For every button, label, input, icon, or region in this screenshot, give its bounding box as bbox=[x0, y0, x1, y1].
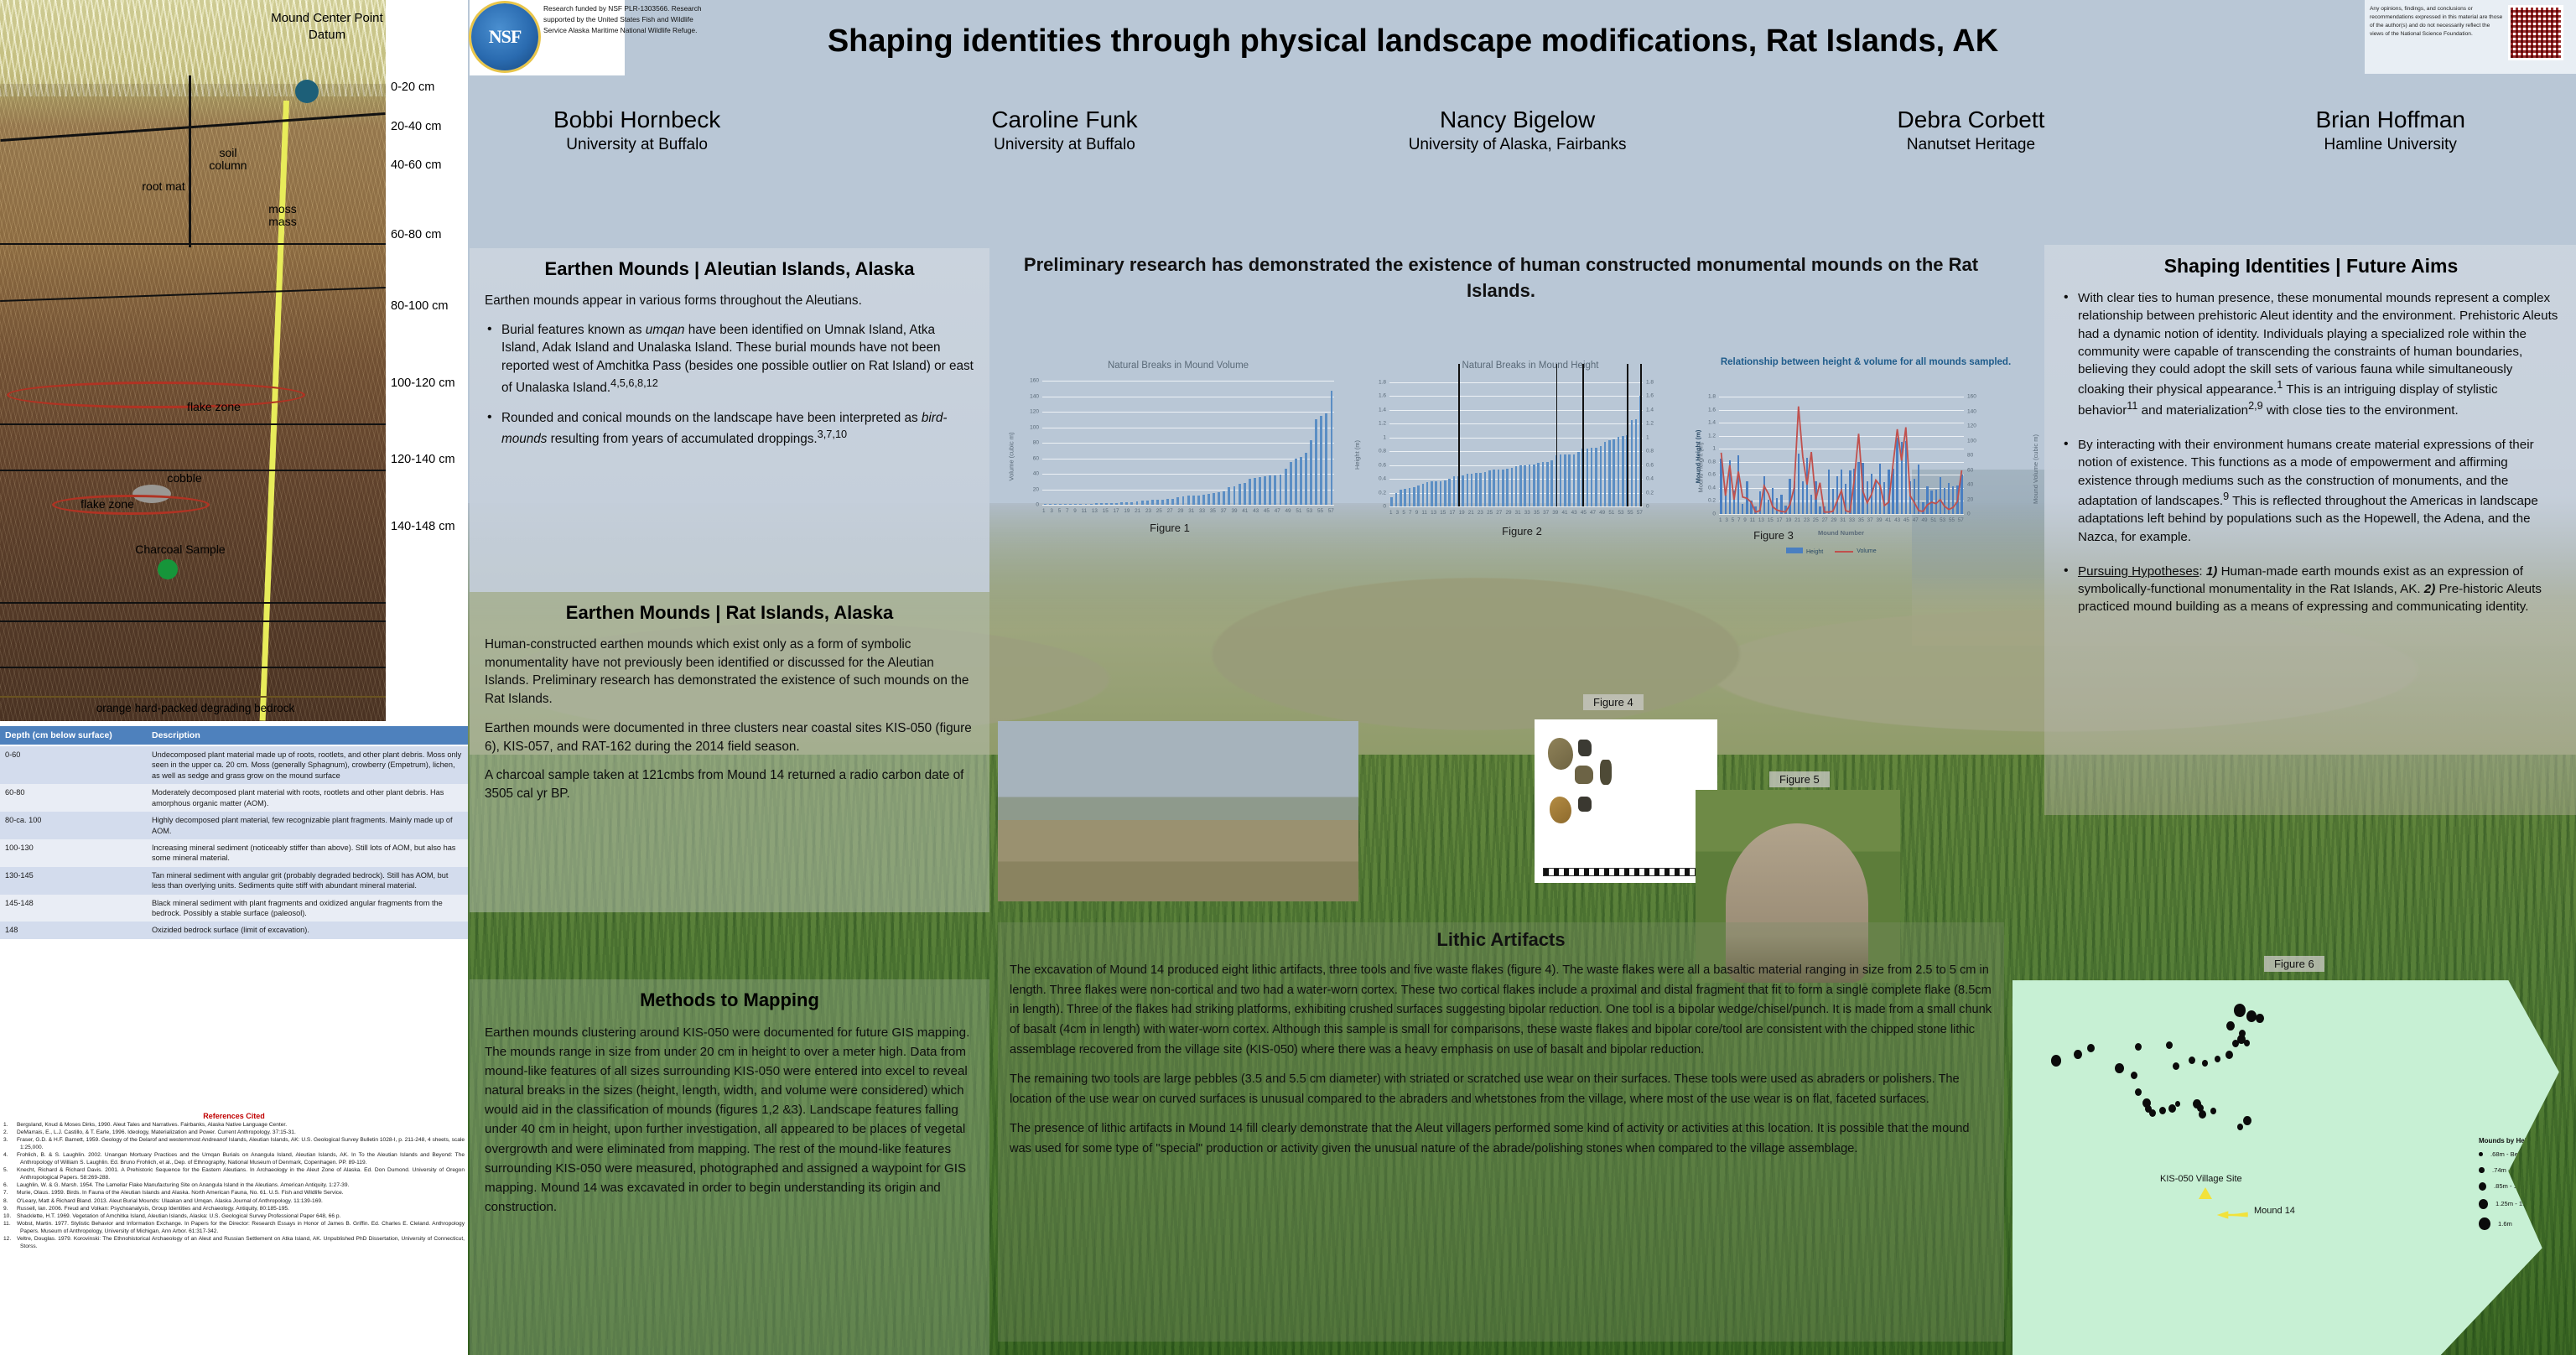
x-tick-label: 15 bbox=[1103, 508, 1109, 514]
x-tick-label: 41 bbox=[1885, 517, 1891, 523]
depth-description-table: Depth (cm below surface) Description 0-6… bbox=[0, 726, 468, 939]
chart-bar bbox=[1202, 495, 1205, 505]
author-affiliation: University at Buffalo bbox=[991, 134, 1137, 156]
chart-bar bbox=[1529, 465, 1531, 506]
profile-line bbox=[0, 602, 386, 604]
natural-break-line bbox=[1458, 364, 1460, 506]
chart-bar bbox=[1560, 454, 1562, 506]
x-tick-label: 11 bbox=[1421, 510, 1427, 516]
cell-depth: 130-145 bbox=[0, 867, 147, 895]
map-mound-dot bbox=[2225, 1051, 2233, 1059]
x-tick-label: 1 bbox=[1389, 510, 1393, 516]
map-mound-dot bbox=[2239, 1030, 2246, 1037]
y-axis-title: Volume (cubic m) bbox=[1007, 433, 1015, 481]
chart-bar bbox=[1635, 419, 1638, 506]
map-mound-dot bbox=[2210, 1108, 2216, 1114]
chart-bar bbox=[1595, 448, 1597, 506]
chart-legend: HeightVolume bbox=[1786, 548, 1877, 555]
chart-bar bbox=[1564, 454, 1566, 506]
x-axis-title: Mound Number bbox=[1818, 529, 1864, 537]
chart-bar bbox=[1254, 478, 1256, 505]
chart-bar bbox=[1130, 502, 1133, 506]
chart-bar bbox=[1502, 470, 1504, 506]
axis-tick-label: 1.6 bbox=[1646, 393, 1654, 399]
axis-tick-label: 1.8 bbox=[1646, 380, 1654, 386]
gridline bbox=[1389, 438, 1643, 439]
table-row: 80-ca. 100Highly decomposed plant materi… bbox=[0, 812, 468, 839]
author-name: Debra Corbett bbox=[1898, 105, 2045, 134]
chart-bar bbox=[1475, 473, 1478, 506]
chart-bar bbox=[1125, 502, 1128, 505]
chart-bar bbox=[1085, 504, 1088, 505]
map-mound-dot bbox=[2135, 1088, 2142, 1096]
axis-tick-label: 0.8 bbox=[1692, 459, 1716, 465]
x-tick-label: 37 bbox=[1867, 517, 1873, 523]
figure-caption: Figure 3 bbox=[1727, 529, 1820, 542]
col-header-description: Description bbox=[147, 726, 468, 745]
chart-bar bbox=[1542, 462, 1545, 506]
x-tick-label: 21 bbox=[1794, 517, 1800, 523]
chart-bar bbox=[1591, 448, 1593, 506]
chart-bar bbox=[1171, 499, 1174, 505]
chart-bar bbox=[1431, 481, 1433, 506]
axis-tick-label: 120 bbox=[1015, 409, 1039, 415]
scale-bar bbox=[1543, 868, 1707, 876]
cell-description: Highly decomposed plant material, few re… bbox=[147, 812, 468, 839]
reference-item: 9.Russell, Ian. 2006. Freud and Volkan: … bbox=[3, 1206, 465, 1213]
panel-title: Lithic Artifacts bbox=[1010, 929, 1992, 951]
author-name: Nancy Bigelow bbox=[1409, 105, 1627, 134]
chart-bar bbox=[1448, 479, 1451, 506]
chart-bar bbox=[1506, 469, 1509, 506]
table-header-row: Depth (cm below surface) Description bbox=[0, 726, 468, 745]
x-tick-label: 33 bbox=[1849, 517, 1855, 523]
axis-tick-label: 0.4 bbox=[1646, 476, 1654, 482]
chart-bar bbox=[1269, 475, 1271, 505]
depth-tick: 100-120 cm bbox=[391, 376, 455, 390]
map-mound-dot bbox=[2189, 1056, 2195, 1064]
chart-bar bbox=[1453, 476, 1456, 506]
legend-dot-icon bbox=[2479, 1152, 2483, 1157]
map-mound-dot bbox=[2087, 1044, 2095, 1052]
x-tick-label: 57 bbox=[1328, 508, 1334, 514]
village-site-marker-icon bbox=[2199, 1187, 2212, 1199]
bullet-item: By interacting with their environment hu… bbox=[2061, 436, 2561, 546]
chart-bar bbox=[1493, 470, 1495, 506]
chart-bar bbox=[1537, 463, 1540, 506]
x-tick-label: 3 bbox=[1396, 510, 1400, 516]
chart-bar bbox=[1239, 484, 1241, 505]
x-tick-label: 15 bbox=[1440, 510, 1446, 516]
chart-bar bbox=[1146, 501, 1149, 505]
x-tick-label: 39 bbox=[1876, 517, 1882, 523]
chart-plot-area: 020406080100120140160 bbox=[1042, 381, 1334, 505]
panel-paragraph: A charcoal sample taken at 121cmbs from … bbox=[485, 766, 974, 802]
village-site-label: KIS-050 Village Site bbox=[2160, 1174, 2242, 1184]
chart-bar bbox=[1290, 462, 1292, 505]
chart-bar bbox=[1631, 420, 1633, 506]
x-tick-label: 41 bbox=[1242, 508, 1248, 514]
reference-item: 12.Veltre, Douglas. 1979. Korovinski: Th… bbox=[3, 1236, 465, 1250]
x-tick-label: 25 bbox=[1813, 517, 1819, 523]
x-tick-label: 33 bbox=[1199, 508, 1205, 514]
axis-tick-label: 120 bbox=[1967, 423, 1976, 429]
axis-tick-label: 0.6 bbox=[1646, 462, 1654, 468]
legend-dot-icon bbox=[2479, 1182, 2486, 1191]
x-tick-label: 39 bbox=[1231, 508, 1237, 514]
chart-bar bbox=[1511, 468, 1514, 506]
references-list: 1.Bergsland, Knud & Moses Dirks, 1990. A… bbox=[3, 1122, 465, 1250]
map-mound-dot bbox=[2115, 1063, 2124, 1073]
x-tick-label: 9 bbox=[1415, 510, 1419, 516]
reference-item: 6.Laughlin, W. & G. Marsh. 1954. The Lam… bbox=[3, 1182, 465, 1190]
chart-bar bbox=[1604, 442, 1607, 506]
natural-break-line bbox=[1640, 364, 1642, 506]
axis-tick-label: 40 bbox=[1015, 471, 1039, 477]
chart-bar bbox=[1141, 501, 1144, 505]
chart-bar bbox=[1136, 501, 1139, 505]
bullet-item-hypotheses: Pursuing Hypotheses: 1) Human-made earth… bbox=[2061, 563, 2561, 616]
x-tick-label: 3 bbox=[1725, 517, 1728, 523]
chart-bar bbox=[1440, 481, 1442, 506]
x-tick-label: 23 bbox=[1145, 508, 1151, 514]
axis-tick-label: 0 bbox=[1015, 502, 1039, 508]
x-tick-label: 37 bbox=[1543, 510, 1549, 516]
reference-item: 7.Murie, Olaus. 1959. Birds. In Fauna of… bbox=[3, 1190, 465, 1197]
panel-methods-to-mapping: Methods to Mapping Earthen mounds cluste… bbox=[470, 979, 989, 1355]
preliminary-research-banner: Preliminary research has demonstrated th… bbox=[998, 252, 2004, 304]
figure-4-artifacts-photo bbox=[1535, 719, 1717, 883]
map-mound-dot bbox=[2173, 1062, 2179, 1070]
profile-line bbox=[0, 620, 386, 622]
chart-bar bbox=[1069, 504, 1072, 505]
bedrock-label: orange hard-packed degrading bedrock bbox=[15, 703, 376, 714]
chart-bar bbox=[1120, 502, 1123, 505]
panel-paragraph: Earthen mounds were documented in three … bbox=[485, 719, 974, 755]
chart-bar bbox=[1577, 452, 1580, 506]
gridline bbox=[1042, 381, 1334, 382]
profile-line bbox=[0, 667, 386, 668]
chart-bar bbox=[1622, 436, 1624, 506]
axis-tick-label: 1 bbox=[1646, 434, 1649, 440]
chart-bar bbox=[1044, 504, 1046, 505]
mound14-label: Mound 14 bbox=[2254, 1206, 2295, 1216]
cell-description: Oxizided bedrock surface (limit of excav… bbox=[147, 922, 468, 938]
soil-profile-photo bbox=[0, 0, 386, 721]
flake-zone-outline bbox=[7, 382, 305, 408]
chart-bar bbox=[1390, 497, 1393, 507]
flake-zone-label-2: flake zone bbox=[65, 498, 149, 511]
x-tick-label: 55 bbox=[1949, 517, 1955, 523]
depth-tick: 0-20 cm bbox=[391, 80, 434, 94]
panel-title: Earthen Mounds | Aleutian Islands, Alask… bbox=[485, 258, 974, 280]
axis-tick-label: 1.6 bbox=[1692, 407, 1716, 413]
chart-bar bbox=[1207, 494, 1210, 505]
artifact-flake bbox=[1600, 760, 1612, 785]
axis-tick-label: 0.6 bbox=[1692, 472, 1716, 478]
x-tick-label: 1 bbox=[1042, 508, 1046, 514]
x-tick-label: 55 bbox=[1628, 510, 1633, 516]
root-mat-label: root mat bbox=[126, 180, 201, 193]
cell-description: Increasing mineral sediment (noticeably … bbox=[147, 839, 468, 867]
x-tick-label: 47 bbox=[1913, 517, 1919, 523]
panel-earthen-mounds-rat: Earthen Mounds | Rat Islands, Alaska Hum… bbox=[470, 592, 989, 912]
figure-caption: Figure 2 bbox=[1455, 525, 1589, 537]
x-tick-label: 5 bbox=[1732, 517, 1735, 523]
natural-break-line bbox=[1582, 364, 1584, 506]
map-mound-dot bbox=[2159, 1107, 2166, 1114]
axis-tick-label: 80 bbox=[1015, 440, 1039, 446]
legend-dot-icon bbox=[2479, 1217, 2490, 1230]
chart-bar bbox=[1090, 504, 1093, 505]
chart-bar bbox=[1249, 479, 1251, 505]
map-mound-dot bbox=[2149, 1109, 2156, 1117]
axis-tick-label: 80 bbox=[1967, 453, 1973, 459]
cell-depth: 0-60 bbox=[0, 745, 147, 784]
x-tick-label: 55 bbox=[1317, 508, 1323, 514]
chart-bar bbox=[1176, 497, 1179, 505]
chart-bar bbox=[1331, 391, 1333, 505]
chart-bar bbox=[1462, 475, 1464, 506]
artifact-flake bbox=[1575, 766, 1593, 784]
chart-bar bbox=[1100, 503, 1103, 505]
map-mound-dot bbox=[2166, 1041, 2173, 1049]
x-tick-label: 15 bbox=[1768, 517, 1774, 523]
x-tick-label: 17 bbox=[1114, 508, 1119, 514]
gridline bbox=[1042, 459, 1334, 459]
author-entry: Debra Corbett Nanutset Heritage bbox=[1898, 105, 2045, 156]
gridline bbox=[1389, 410, 1643, 411]
chart-bar bbox=[1550, 460, 1553, 506]
reference-item: 2.DeMarrais, E., L.J. Castillo, & T. Ear… bbox=[3, 1129, 465, 1137]
bullet-item: Burial features known as umqan have been… bbox=[485, 321, 974, 397]
chart-bar bbox=[1228, 487, 1230, 505]
chart-bar bbox=[1618, 437, 1620, 506]
x-tick-label: 33 bbox=[1524, 510, 1530, 516]
chart-bar bbox=[1546, 462, 1549, 506]
map-mound-dot bbox=[2051, 1055, 2061, 1067]
panel-paragraph: Human-constructed earthen mounds which e… bbox=[485, 636, 974, 709]
reference-item: 5.Knecht, Richard & Richard Davis. 2001.… bbox=[3, 1167, 465, 1181]
x-tick-label: 31 bbox=[1840, 517, 1846, 523]
chart-bar bbox=[1413, 487, 1415, 506]
figure-6-map: KIS-050 Village Site Mound 14 Mounds by … bbox=[2012, 973, 2576, 1355]
x-tick-label: 9 bbox=[1073, 508, 1077, 514]
x-tick-label: 45 bbox=[1264, 508, 1270, 514]
chart-bar bbox=[1110, 503, 1113, 505]
axis-tick-label: 0.4 bbox=[1363, 476, 1386, 482]
axis-tick-label: 60 bbox=[1967, 467, 1973, 473]
profile-line bbox=[0, 243, 386, 245]
cell-depth: 60-80 bbox=[0, 784, 147, 812]
chart-bar bbox=[1310, 440, 1312, 505]
map-mound-dot bbox=[2175, 1101, 2180, 1107]
x-axis-ticks: 1357911131517192123252729313335373941434… bbox=[1719, 517, 1964, 523]
cell-description: Moderately decomposed plant material wit… bbox=[147, 784, 468, 812]
chart-bar bbox=[1064, 504, 1067, 505]
chart-bar bbox=[1054, 504, 1057, 505]
reference-item: 3.Fraser, G.D. & H.F. Barnett, 1959. Geo… bbox=[3, 1137, 465, 1151]
x-tick-label: 35 bbox=[1858, 517, 1864, 523]
axis-tick-label: 0.8 bbox=[1363, 449, 1386, 454]
chart-bar bbox=[1259, 477, 1261, 505]
chart-bar bbox=[1079, 504, 1082, 505]
author-affiliation: University of Alaska, Fairbanks bbox=[1409, 134, 1627, 156]
x-tick-label: 49 bbox=[1285, 508, 1291, 514]
map-mound-dot bbox=[2226, 1021, 2235, 1031]
mound-center-point-label: Mound Center Point Datum bbox=[243, 10, 411, 44]
author-affiliation: Hamline University bbox=[2316, 134, 2465, 156]
panel-title: Earthen Mounds | Rat Islands, Alaska bbox=[485, 602, 974, 624]
datum-text: Datum bbox=[243, 27, 411, 44]
figure-4-caption: Figure 4 bbox=[1583, 694, 1644, 710]
qr-code-icon[interactable] bbox=[2508, 5, 2563, 60]
chart-bar bbox=[1444, 480, 1446, 506]
x-tick-label: 29 bbox=[1505, 510, 1511, 516]
table-row: 148Oxizided bedrock surface (limit of ex… bbox=[0, 922, 468, 938]
references-heading: References Cited bbox=[3, 1112, 465, 1120]
axis-tick-label: 1.2 bbox=[1692, 433, 1716, 439]
figure-6-caption: Figure 6 bbox=[2264, 956, 2324, 972]
x-tick-label: 21 bbox=[1135, 508, 1140, 514]
chart-bar bbox=[1264, 476, 1266, 505]
legend-dot-icon bbox=[2479, 1199, 2488, 1209]
mcp-text: Mound Center Point bbox=[243, 10, 411, 27]
bullet-item: Rounded and conical mounds on the landsc… bbox=[485, 409, 974, 449]
x-tick-label: 57 bbox=[1637, 510, 1643, 516]
moss-mass-label: moss mass bbox=[253, 203, 312, 227]
author-name: Caroline Funk bbox=[991, 105, 1137, 134]
chart-title: Natural Breaks in Mound Height bbox=[1363, 361, 1698, 371]
chart-bar bbox=[1467, 474, 1469, 506]
charcoal-sample-marker bbox=[158, 559, 178, 579]
author-name: Brian Hoffman bbox=[2316, 105, 2465, 134]
x-tick-label: 13 bbox=[1092, 508, 1098, 514]
chart-bar bbox=[1426, 482, 1429, 506]
chart-figure-2: Natural Breaks in Mound Height Height (m… bbox=[1363, 361, 1698, 549]
chart-bar bbox=[1095, 503, 1098, 505]
chart-bar bbox=[1498, 470, 1500, 506]
axis-tick-label: 40 bbox=[1967, 482, 1973, 488]
chart-bar bbox=[1049, 504, 1052, 505]
chart-title: Natural Breaks in Mound Volume bbox=[1002, 361, 1354, 371]
x-tick-label: 9 bbox=[1743, 517, 1747, 523]
table-row: 145-148Black mineral sediment with plant… bbox=[0, 895, 468, 922]
chart-bar bbox=[1471, 474, 1473, 506]
author-entry: Brian Hoffman Hamline University bbox=[2316, 105, 2465, 156]
artifact-flake bbox=[1578, 740, 1592, 756]
chart-bar bbox=[1587, 449, 1589, 506]
chart-bar bbox=[1074, 504, 1077, 505]
x-tick-label: 45 bbox=[1903, 517, 1909, 523]
chart-bar bbox=[1524, 465, 1526, 506]
axis-tick-label: 0.2 bbox=[1363, 490, 1386, 496]
x-tick-label: 43 bbox=[1571, 510, 1577, 516]
figure-5-caption: Figure 5 bbox=[1769, 771, 1830, 787]
x-tick-label: 35 bbox=[1534, 510, 1540, 516]
x-tick-label: 27 bbox=[1822, 517, 1828, 523]
axis-tick-label: 140 bbox=[1015, 393, 1039, 399]
chart-bar bbox=[1395, 493, 1398, 506]
x-tick-label: 3 bbox=[1050, 508, 1053, 514]
axis-tick-label: 1.8 bbox=[1363, 380, 1386, 386]
chart-figure-3: Relationship between height & volume for… bbox=[1694, 356, 2038, 566]
x-tick-label: 53 bbox=[1618, 510, 1624, 516]
x-tick-label: 25 bbox=[1156, 508, 1162, 514]
bullet-item: With clear ties to human presence, these… bbox=[2061, 289, 2561, 419]
map-mound-dot bbox=[2202, 1060, 2208, 1067]
axis-tick-label: 1.6 bbox=[1363, 393, 1386, 399]
axis-tick-label: 20 bbox=[1967, 496, 1973, 502]
axis-tick-label: 0.2 bbox=[1646, 490, 1654, 496]
map-mound-dot bbox=[2246, 1010, 2257, 1022]
map-mound-dot bbox=[2244, 1040, 2250, 1046]
chart-bar bbox=[1244, 483, 1246, 505]
depth-tick: 60-80 cm bbox=[391, 228, 441, 241]
artifact-pebble bbox=[1548, 738, 1573, 770]
chart-bar bbox=[1197, 496, 1200, 505]
gridline bbox=[1042, 505, 1334, 506]
chart-bar bbox=[1479, 473, 1482, 506]
x-tick-label: 45 bbox=[1581, 510, 1587, 516]
natural-break-line bbox=[1556, 364, 1558, 506]
author-name: Bobbi Hornbeck bbox=[553, 105, 720, 134]
reference-item: 11.Wobst, Martin. 1977. Stylistic Behavi… bbox=[3, 1221, 465, 1235]
gridline bbox=[1389, 396, 1643, 397]
x-tick-label: 35 bbox=[1210, 508, 1216, 514]
soil-column-label: soil column bbox=[195, 147, 262, 171]
axis-tick-label: 160 bbox=[1967, 394, 1976, 400]
chart-bar bbox=[1519, 465, 1522, 506]
chart-bar bbox=[1166, 499, 1169, 505]
x-tick-label: 43 bbox=[1894, 517, 1900, 523]
panel-bullets: Burial features known as umqan have been… bbox=[485, 321, 974, 449]
chart-bar bbox=[1274, 475, 1276, 505]
chart-bar bbox=[1285, 469, 1287, 505]
mound14-arrow-icon bbox=[2208, 1211, 2251, 1219]
x-tick-label: 7 bbox=[1409, 510, 1412, 516]
x-tick-label: 23 bbox=[1804, 517, 1810, 523]
reference-item: 1.Bergsland, Knud & Moses Dirks, 1990. A… bbox=[3, 1122, 465, 1129]
axis-tick-label: 0.6 bbox=[1363, 462, 1386, 468]
chart-bar bbox=[1280, 475, 1282, 505]
artifact-pebble bbox=[1550, 797, 1571, 823]
chart-bar bbox=[1315, 419, 1317, 505]
chart-bar bbox=[1192, 496, 1195, 505]
natural-break-line bbox=[1627, 364, 1628, 506]
x-tick-label: 5 bbox=[1402, 510, 1405, 516]
axis-tick-label: 0.2 bbox=[1692, 498, 1716, 504]
disclaimer-text: Any opinions, findings, and conclusions … bbox=[2370, 5, 2504, 39]
chart-bar bbox=[1156, 500, 1159, 505]
chart-figure-1: Natural Breaks in Mound Volume Volume (c… bbox=[1002, 361, 1354, 545]
x-tick-label: 43 bbox=[1253, 508, 1259, 514]
chart-bar bbox=[1422, 484, 1425, 506]
reference-item: 10.Shacklette, H.T. 1969. Vegetation of … bbox=[3, 1213, 465, 1221]
panel-paragraph: The presence of lithic artifacts in Moun… bbox=[1010, 1119, 1992, 1159]
x-tick-label: 7 bbox=[1066, 508, 1069, 514]
x-tick-label: 13 bbox=[1431, 510, 1436, 516]
panel-title: Shaping Identities | Future Aims bbox=[2061, 255, 2561, 278]
axis-tick-label: 100 bbox=[1015, 424, 1039, 430]
gridline bbox=[1042, 443, 1334, 444]
chart-bar bbox=[1409, 488, 1411, 506]
depth-tick: 80-100 cm bbox=[391, 299, 449, 313]
axis-tick-label: 1 bbox=[1692, 446, 1716, 452]
x-tick-label: 39 bbox=[1552, 510, 1558, 516]
axis-tick-label: 0 bbox=[1646, 504, 1649, 510]
page-title: Shaping identities through physical land… bbox=[470, 23, 2356, 60]
